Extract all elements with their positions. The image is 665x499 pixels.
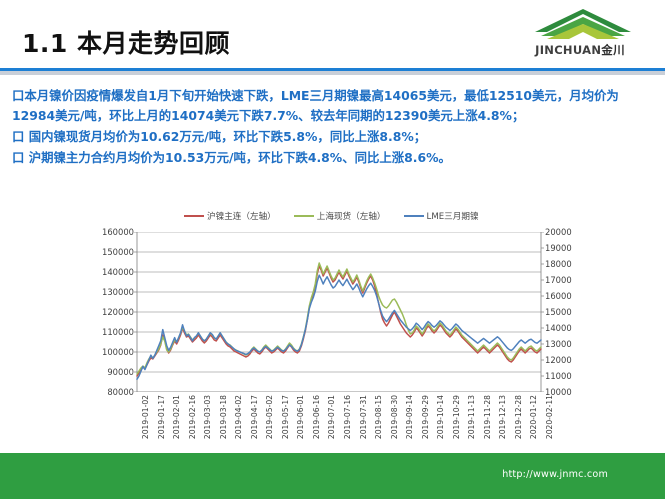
x-tick-label: 2019-06-16 (312, 395, 321, 439)
x-tick-label: 2020-01-12 (529, 395, 538, 439)
x-tick-label: 2019-10-14 (436, 395, 445, 439)
legend-item-2: LME三月期镍 (404, 210, 479, 222)
x-tick-label: 2019-08-30 (390, 395, 399, 439)
bullet-item-3: 口 沪期镍主力合约月均价为10.53万元/吨，环比下跌4.8%、同比上涨8.6%… (12, 148, 654, 168)
company-logo: JINCHUAN金川 (511, 8, 649, 60)
x-tick-label: 2019-11-28 (483, 395, 492, 439)
logo-brand-latin: JINCHUAN (535, 43, 601, 57)
x-tick-label: 2019-09-29 (421, 395, 430, 439)
x-tick-label: 2019-07-01 (327, 395, 336, 439)
slide-header: 1.1 本月走势回顾 JINCHUAN金川 (0, 0, 665, 70)
x-tick-label: 2019-06-01 (296, 395, 305, 439)
legend-swatch-1 (294, 215, 314, 218)
slide-footer: http://www.jnmc.com (0, 453, 665, 499)
jinchuan-mountain-logo-icon (533, 8, 633, 41)
x-tick-label: 2019-12-28 (514, 395, 523, 439)
legend-swatch-2 (404, 215, 424, 218)
x-tick-label: 2019-07-16 (343, 395, 352, 439)
x-tick-label: 2019-12-13 (498, 395, 507, 439)
chart-series-line-0 (137, 266, 541, 376)
logo-wordmark: JINCHUAN金川 (511, 42, 649, 58)
chart-legend: 沪镍主连（左轴） 上海现货（左轴） LME三月期镍 (184, 209, 514, 223)
logo-brand-cn: 金川 (601, 43, 625, 57)
chart-plot-area (96, 232, 586, 392)
x-tick-label: 2020-02-11 (545, 395, 554, 439)
x-axis-labels: 2019-01-022019-01-172019-02-012019-02-16… (137, 395, 541, 451)
x-tick-label: 2019-01-17 (157, 395, 166, 439)
legend-item-1: 上海现货（左轴） (294, 210, 386, 222)
x-tick-label: 2019-08-15 (374, 395, 383, 439)
x-tick-label: 2019-07-31 (359, 395, 368, 439)
x-tick-label: 2019-03-18 (219, 395, 228, 439)
x-tick-label: 2019-02-01 (172, 395, 181, 439)
bullet-item-2: 口 国内镍现货月均价为10.62万元/吨，环比下跌5.8%，同比上涨8.8%； (12, 127, 654, 147)
x-tick-label: 2019-04-02 (234, 395, 243, 439)
chart-series-line-2 (137, 275, 541, 379)
summary-bullets: 口本月镍价因疫情爆发自1月下旬开始快速下跌，LME三月期镍最高14065美元，最… (12, 86, 654, 169)
legend-label-2: LME三月期镍 (427, 210, 479, 222)
x-tick-label: 2019-01-02 (141, 395, 150, 439)
bullet-item-1: 口本月镍价因疫情爆发自1月下旬开始快速下跌，LME三月期镍最高14065美元，最… (12, 86, 654, 126)
footer-url: http://www.jnmc.com (502, 469, 608, 480)
legend-swatch-0 (184, 215, 204, 218)
legend-item-0: 沪镍主连（左轴） (184, 210, 276, 222)
x-tick-label: 2019-09-14 (405, 395, 414, 439)
x-tick-label: 2019-05-02 (265, 395, 274, 439)
x-tick-label: 2019-05-17 (281, 395, 290, 439)
nickel-price-chart: 沪镍主连（左轴） 上海现货（左轴） LME三月期镍 80000900001000… (96, 205, 586, 455)
legend-label-0: 沪镍主连（左轴） (207, 210, 276, 222)
x-tick-label: 2019-03-03 (203, 395, 212, 439)
x-tick-label: 2019-10-29 (452, 395, 461, 439)
x-tick-label: 2019-11-13 (467, 395, 476, 439)
page-title: 1.1 本月走势回顾 (22, 24, 230, 60)
legend-label-1: 上海现货（左轴） (317, 210, 386, 222)
x-tick-label: 2019-02-16 (188, 395, 197, 439)
header-divider-shadow (0, 71, 665, 75)
x-tick-label: 2019-04-17 (250, 395, 259, 439)
